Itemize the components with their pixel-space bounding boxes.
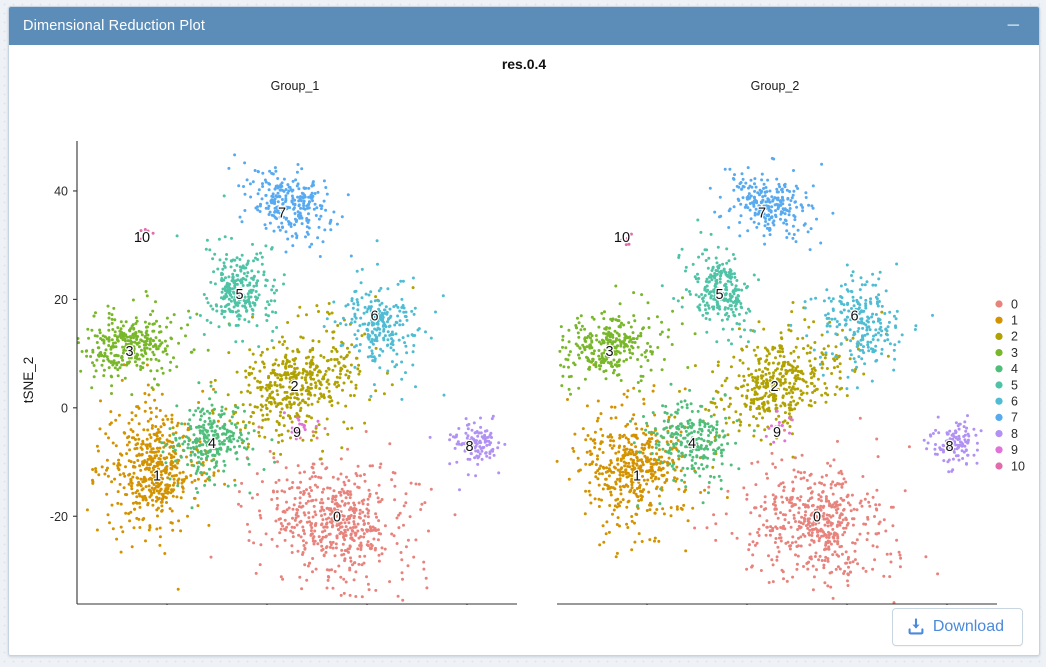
legend-label-3: 3: [1011, 346, 1018, 360]
cluster-label-0: 0: [813, 509, 821, 525]
cluster-label-5: 5: [235, 287, 243, 303]
scatter-plot-svg: res.0.4Group_1012345678910-2002040-20020…: [9, 45, 1039, 605]
download-button[interactable]: Download: [892, 608, 1023, 646]
legend-swatch-3: [995, 349, 1002, 356]
cluster-label-6: 6: [370, 309, 378, 325]
facet-panel-2: Group_2012345678910-2002040: [556, 79, 997, 605]
legend-swatch-8: [995, 430, 1002, 437]
cluster-label-9: 9: [293, 425, 301, 441]
legend-swatch-6: [995, 398, 1002, 405]
y-tick-label: 40: [54, 184, 68, 198]
cluster-label-7: 7: [758, 206, 766, 222]
cluster-points-4: [160, 381, 276, 509]
facet-panel-1: Group_1012345678910-2002040-2002040: [50, 79, 517, 605]
cluster-label-8: 8: [945, 439, 953, 455]
y-tick-label: 20: [54, 293, 68, 307]
legend-swatch-5: [995, 381, 1002, 388]
cluster-label-7: 7: [278, 206, 286, 222]
y-tick-label: 0: [61, 401, 68, 415]
facet-title: Group_2: [751, 79, 800, 93]
download-button-label: Download: [933, 618, 1004, 636]
cluster-label-6: 6: [850, 309, 858, 325]
cluster-points-3: [558, 285, 696, 396]
legend-swatch-9: [995, 446, 1002, 453]
cluster-label-4: 4: [208, 436, 216, 452]
cluster-points-6: [323, 239, 446, 401]
cluster-points-2: [673, 301, 890, 469]
cluster-points-1: [86, 363, 236, 591]
legend-label-10: 10: [1011, 459, 1025, 473]
cluster-label-0: 0: [333, 509, 341, 525]
card-header: Dimensional Reduction Plot ─: [9, 7, 1039, 45]
page-title: Dimensional Reduction Plot: [23, 18, 205, 34]
cluster-points-5: [176, 194, 286, 348]
cluster-label-3: 3: [125, 344, 133, 360]
card-footer: Download: [9, 599, 1039, 655]
y-axis-title: tSNE_2: [21, 357, 36, 404]
cluster-label-8: 8: [465, 439, 473, 455]
card-body: res.0.4Group_1012345678910-2002040-20020…: [9, 45, 1039, 655]
legend-swatch-2: [995, 333, 1002, 340]
y-tick-label: -20: [50, 510, 68, 524]
cluster-label-5: 5: [715, 287, 723, 303]
download-icon: [907, 618, 925, 636]
cluster-points-6: [789, 263, 934, 391]
legend-label-8: 8: [1011, 427, 1018, 441]
legend-label-5: 5: [1011, 378, 1018, 392]
legend-swatch-10: [995, 462, 1002, 469]
legend-swatch-4: [995, 365, 1002, 372]
cluster-label-1: 1: [633, 469, 641, 485]
legend: 012345678910: [995, 297, 1025, 473]
cluster-label-10: 10: [134, 230, 150, 246]
legend-label-2: 2: [1011, 330, 1018, 344]
legend-swatch-1: [995, 317, 1002, 324]
cluster-label-4: 4: [688, 436, 696, 452]
dimensional-reduction-plot: res.0.4Group_1012345678910-2002040-20020…: [9, 45, 1039, 605]
legend-label-7: 7: [1011, 411, 1018, 425]
cluster-points-5: [661, 219, 760, 346]
chart-title: res.0.4: [502, 56, 547, 72]
legend-label-1: 1: [1011, 314, 1018, 328]
legend-label-9: 9: [1011, 443, 1018, 457]
legend-label-6: 6: [1011, 395, 1018, 409]
cluster-label-1: 1: [153, 469, 161, 485]
cluster-points-7: [709, 157, 835, 251]
legend-label-4: 4: [1011, 362, 1018, 376]
legend-swatch-0: [995, 300, 1002, 307]
minimize-icon[interactable]: ─: [1004, 19, 1023, 33]
plot-card: Dimensional Reduction Plot ─ res.0.4Grou…: [8, 6, 1040, 656]
cluster-label-3: 3: [605, 344, 613, 360]
cluster-label-2: 2: [770, 379, 778, 395]
cluster-points-3: [77, 290, 231, 396]
cluster-label-2: 2: [290, 379, 298, 395]
cluster-label-9: 9: [773, 425, 781, 441]
legend-label-0: 0: [1011, 297, 1018, 311]
facet-title: Group_1: [271, 79, 320, 93]
cluster-label-10: 10: [614, 230, 630, 246]
cluster-points-7: [227, 153, 352, 258]
legend-swatch-7: [995, 414, 1002, 421]
